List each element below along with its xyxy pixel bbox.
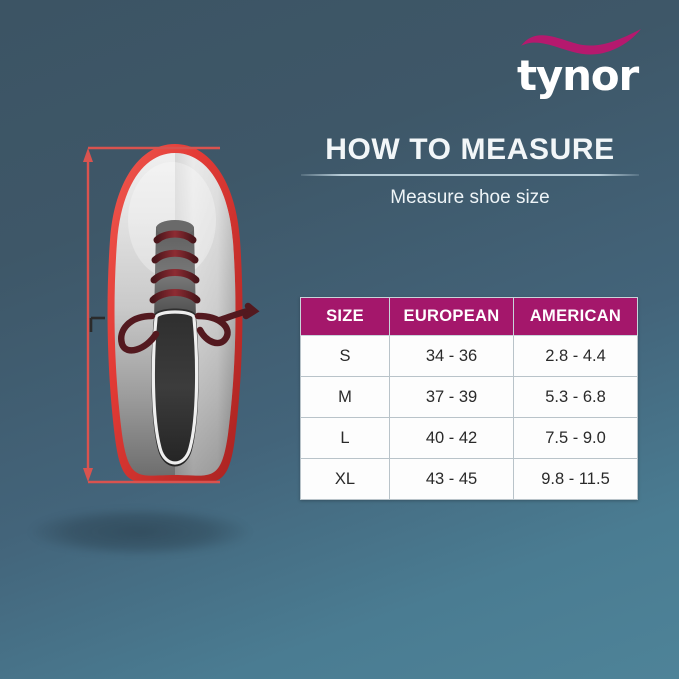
column-header-american: AMERICAN (514, 298, 638, 336)
cell-european: 37 - 39 (390, 377, 514, 418)
table-row: L 40 - 42 7.5 - 9.0 (301, 418, 638, 459)
brand-logo: tynor (505, 26, 650, 104)
column-header-size: SIZE (301, 298, 390, 336)
size-chart-table: SIZE EUROPEAN AMERICAN S 34 - 36 2.8 - 4… (300, 297, 638, 500)
arrow-head-top (83, 148, 93, 162)
title-block: HOW TO MEASURE Measure shoe size (295, 132, 645, 210)
title-divider (301, 174, 639, 176)
width-corner-marker (91, 318, 105, 332)
cell-american: 7.5 - 9.0 (514, 418, 638, 459)
cell-american: 2.8 - 4.4 (514, 336, 638, 377)
table-row: XL 43 - 45 9.8 - 11.5 (301, 459, 638, 500)
cell-american: 5.3 - 6.8 (514, 377, 638, 418)
column-header-european: EUROPEAN (390, 298, 514, 336)
shoe-illustration (60, 120, 290, 570)
page-title: HOW TO MEASURE (295, 132, 645, 168)
cell-american: 9.8 - 11.5 (514, 459, 638, 500)
size-table-container: SIZE EUROPEAN AMERICAN S 34 - 36 2.8 - 4… (300, 297, 637, 500)
shoe-drop-shadow (30, 508, 250, 556)
cell-european: 40 - 42 (390, 418, 514, 459)
size-chart-poster: tynor HOW TO MEASURE Measure shoe size (0, 0, 679, 679)
cell-size: S (301, 336, 390, 377)
cell-european: 43 - 45 (390, 459, 514, 500)
cell-european: 34 - 36 (390, 336, 514, 377)
arrow-head-bottom (83, 468, 93, 482)
cell-size: L (301, 418, 390, 459)
brand-wordmark: tynor (505, 52, 650, 100)
table-row: M 37 - 39 5.3 - 6.8 (301, 377, 638, 418)
cell-size: XL (301, 459, 390, 500)
page-subtitle: Measure shoe size (295, 186, 645, 210)
cell-size: M (301, 377, 390, 418)
table-row: S 34 - 36 2.8 - 4.4 (301, 336, 638, 377)
table-header-row: SIZE EUROPEAN AMERICAN (301, 298, 638, 336)
shoe-top-view-graphic (60, 120, 290, 570)
